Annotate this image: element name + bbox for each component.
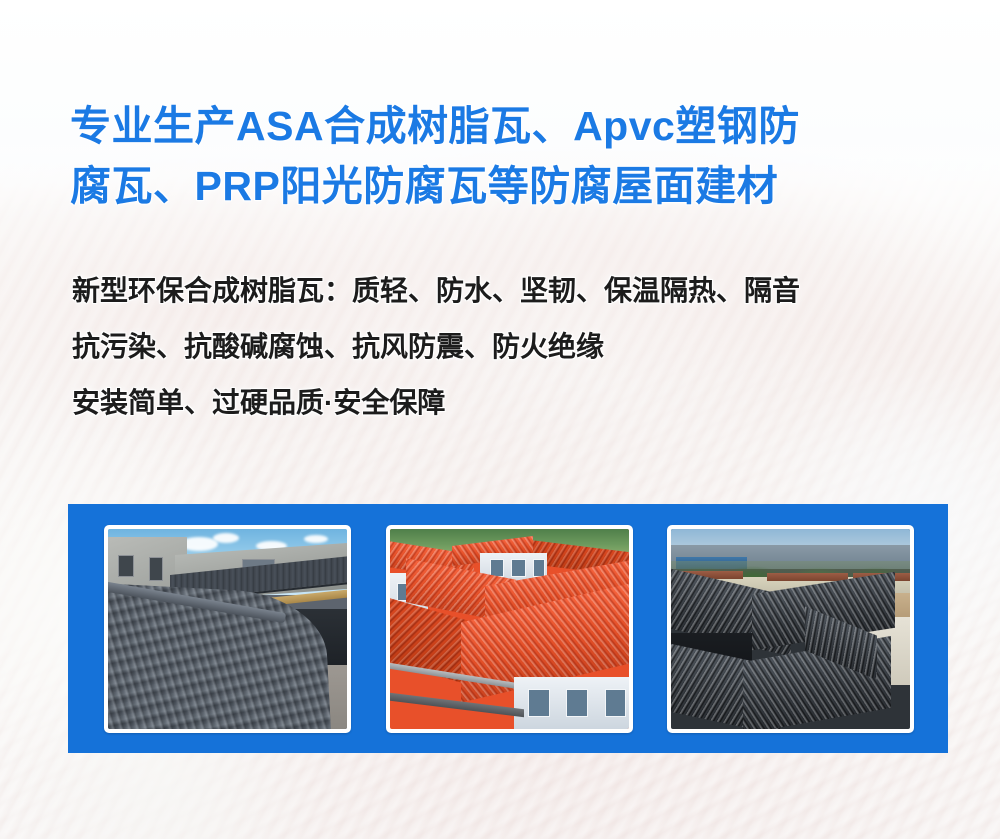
window-shape bbox=[149, 557, 163, 581]
photo-gallery-panel bbox=[68, 504, 948, 753]
feature-line-2: 抗污染、抗酸碱腐蚀、抗风防震、防火绝缘 bbox=[72, 332, 962, 388]
red-roof-image bbox=[390, 529, 629, 729]
promo-banner: 专业生产ASA合成树脂瓦、Apvc塑钢防 腐瓦、PRP阳光防腐瓦等防腐屋面建材 … bbox=[0, 0, 1000, 839]
feature-text-block: 新型环保合成树脂瓦：质轻、防水、坚韧、保温隔热、隔音 抗污染、抗酸碱腐蚀、抗风防… bbox=[72, 276, 962, 444]
black-resin-tile-roof-photo[interactable] bbox=[667, 525, 914, 733]
feature-line-1: 新型环保合成树脂瓦：质轻、防水、坚韧、保温隔热、隔音 bbox=[72, 276, 962, 332]
feature-line-3: 安装简单、过硬品质·安全保障 bbox=[72, 388, 962, 444]
cloud-shape bbox=[304, 535, 328, 543]
window-shape bbox=[566, 689, 588, 717]
window-shape bbox=[511, 559, 525, 577]
village-roof bbox=[767, 573, 848, 581]
grey-resin-tile-roof-photo[interactable] bbox=[104, 525, 351, 733]
window-shape bbox=[533, 559, 545, 577]
headline-line-1: 专业生产ASA合成树脂瓦、Apvc塑钢防 bbox=[70, 96, 950, 156]
photo-row bbox=[104, 525, 914, 733]
red-resin-tile-roof-photo[interactable] bbox=[386, 525, 633, 733]
black-roof-image bbox=[671, 529, 910, 729]
gutter-line bbox=[390, 693, 524, 717]
grey-roof-image bbox=[108, 529, 347, 729]
window-shape bbox=[118, 555, 135, 577]
window-shape bbox=[528, 689, 550, 717]
headline-line-2: 腐瓦、PRP阳光防腐瓦等防腐屋面建材 bbox=[70, 156, 950, 216]
page-title: 专业生产ASA合成树脂瓦、Apvc塑钢防 腐瓦、PRP阳光防腐瓦等防腐屋面建材 bbox=[70, 96, 950, 216]
window-shape bbox=[605, 689, 627, 717]
